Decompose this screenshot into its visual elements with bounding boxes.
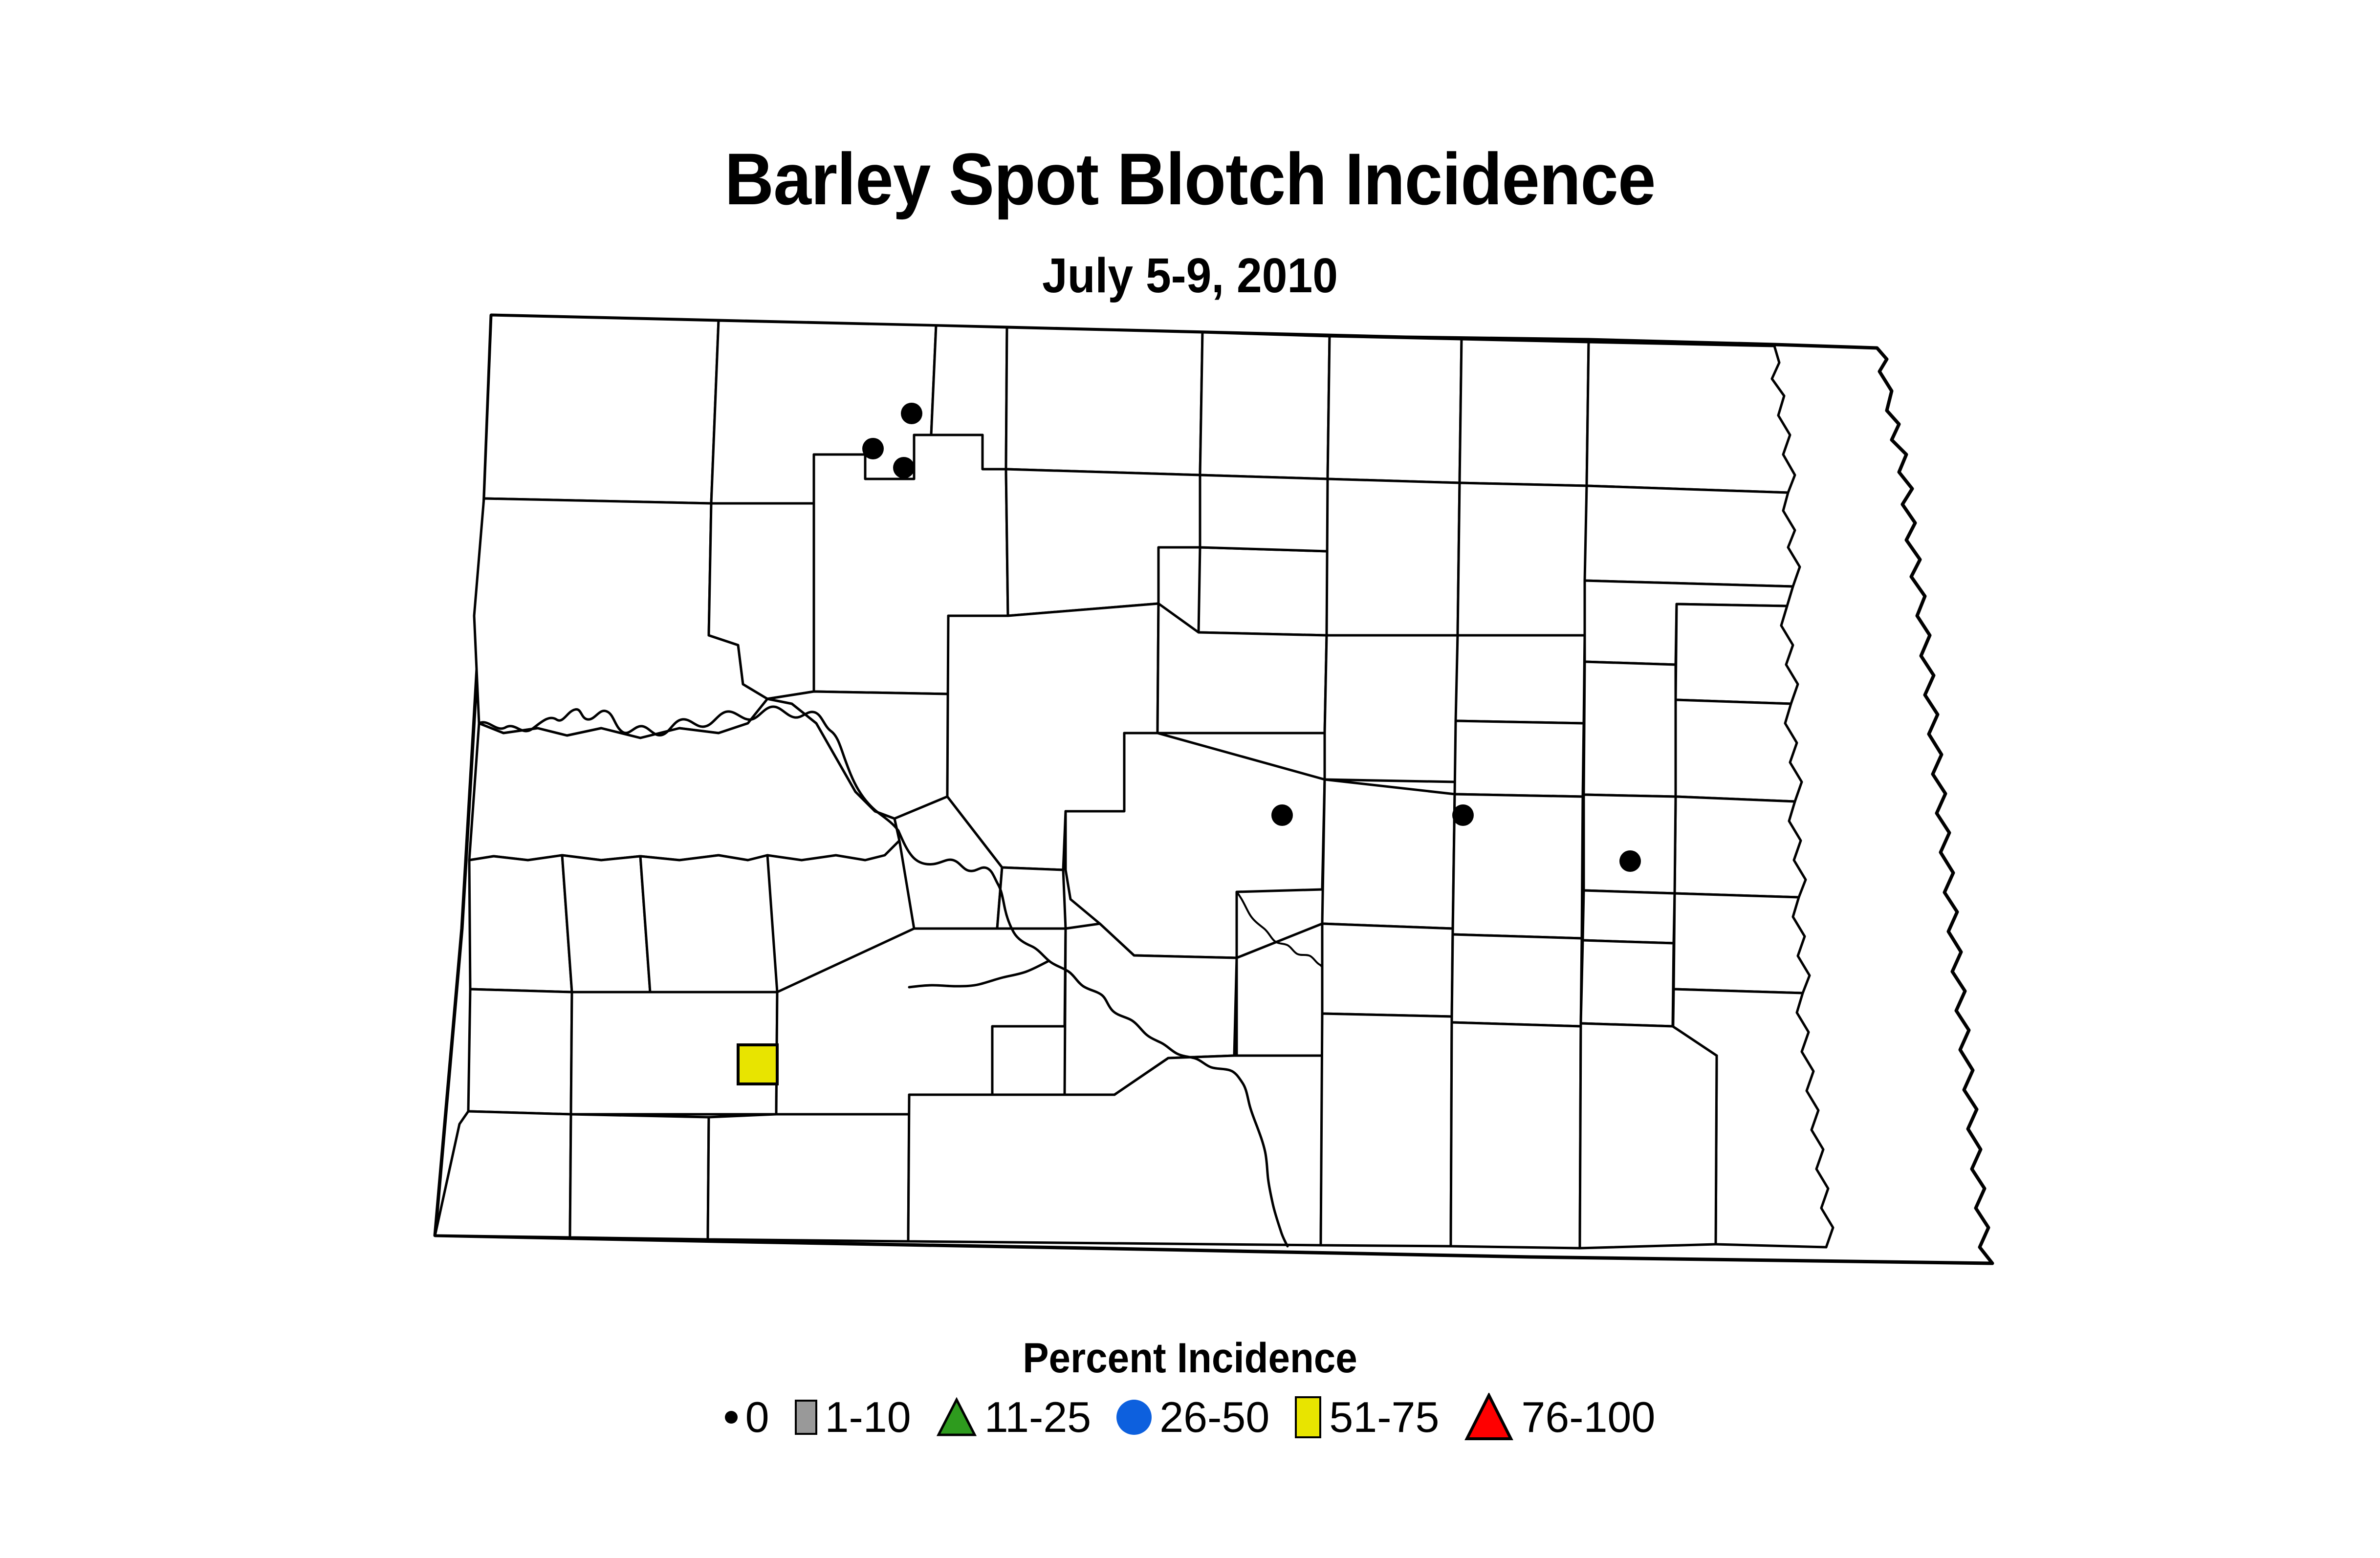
marker-incidence-0[interactable] [893,457,915,478]
marker-incidence-0[interactable] [901,403,922,424]
legend-label-51-75: 51-75 [1329,1396,1439,1439]
county-barnes [1584,795,1676,893]
legend-label-0: 0 [745,1396,769,1439]
county-stark [640,855,777,992]
county-rolette [1200,332,1330,479]
county-pierce [1199,547,1328,635]
map-page: Barley Spot Blotch Incidence July 5-9, 2… [0,0,2380,1558]
page-title: Barley Spot Blotch Incidence [83,141,2296,218]
county-pierce-upper [1200,475,1328,551]
county-lamoure [1452,934,1582,1026]
legend-item-76-100[interactable]: 76-100 [1464,1393,1655,1442]
county-billings [562,855,650,992]
marker-incidence-51-75[interactable] [738,1045,777,1084]
county-traill [1675,797,1806,897]
county-benson [1327,479,1460,635]
north-dakota-county-map[interactable] [406,293,2068,1320]
gray-square-icon [795,1400,817,1435]
county-pembina [1587,342,1795,493]
green-triangle-icon [937,1397,977,1437]
county-cavalier [1460,339,1589,486]
legend-label-1-10: 1-10 [825,1396,911,1439]
county-kidder [1322,779,1455,929]
legend-title: Percent Incidence [83,1334,2296,1383]
county-bottineau [1006,327,1202,475]
legend-item-0[interactable]: 0 [725,1396,769,1439]
county-towner [1328,336,1462,483]
county-ramsey [1458,483,1587,635]
county-logan [1322,924,1453,1017]
county-barnes-south [1583,890,1675,943]
legend-item-1-10[interactable]: 1-10 [795,1396,911,1439]
county-cass [1674,893,1810,993]
legend-item-11-25[interactable]: 11-25 [937,1396,1092,1439]
county-divide [484,315,719,503]
marker-incidence-0[interactable] [862,438,884,459]
blue-circle-icon [1116,1400,1152,1435]
county-eddy [1456,635,1585,723]
county-sargent [1580,1023,1717,1248]
legend-item-26-50[interactable]: 26-50 [1116,1396,1269,1439]
county-wells [1325,635,1458,782]
marker-incidence-0[interactable] [1619,850,1641,872]
county-foster [1455,721,1584,797]
legend-label-26-50: 26-50 [1159,1396,1269,1439]
county-adams [570,1114,709,1239]
county-golden-valley [469,855,572,992]
map-counties [435,315,1992,1263]
county-slope [468,989,572,1114]
county-walsh [1585,486,1800,586]
county-ransom [1581,940,1674,1026]
legend: 0 1-10 11-25 26-50 51-75 76-100 [0,1393,2380,1442]
black-dot-icon [725,1411,738,1424]
legend-item-51-75[interactable]: 51-75 [1295,1396,1439,1439]
county-mcintosh [1321,1014,1452,1246]
yellow-square-icon [1295,1396,1321,1438]
county-sioux-west [708,1114,909,1241]
county-griggs [1584,662,1676,797]
red-triangle-icon [1464,1393,1513,1442]
legend-label-76-100: 76-100 [1521,1396,1655,1439]
marker-incidence-0[interactable] [1271,804,1293,826]
county-steele [1676,700,1802,801]
county-grand-forks [1676,604,1798,704]
marker-incidence-0[interactable] [1452,804,1474,826]
county-dickey [1451,1022,1581,1248]
legend-label-11-25: 11-25 [984,1396,1092,1439]
